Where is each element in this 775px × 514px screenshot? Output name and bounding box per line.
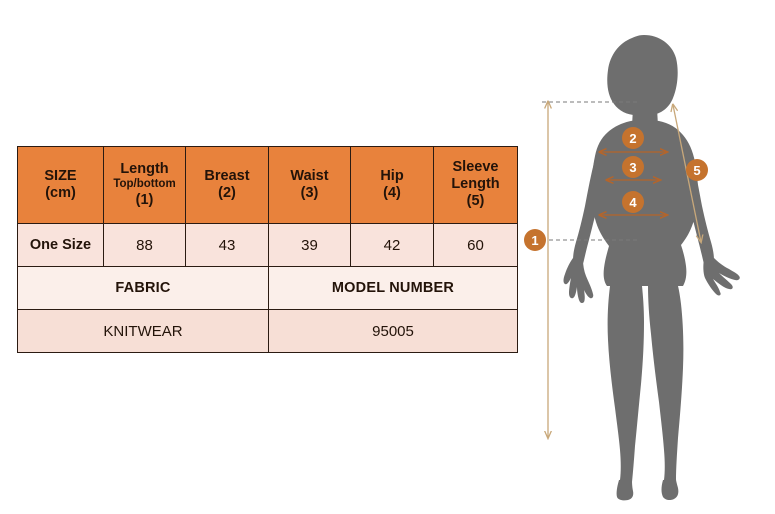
label-fabric: FABRIC xyxy=(18,267,269,310)
table-row: One Size 88 43 39 42 60 xyxy=(18,224,518,267)
header-hip-title: Hip xyxy=(352,168,432,185)
measurement-figure-container: 1 2 3 4 5 xyxy=(520,10,770,510)
cell-length-value: 88 xyxy=(104,224,186,267)
header-sleeve-title-line1: Sleeve xyxy=(435,159,516,176)
header-size-title: SIZE xyxy=(19,168,102,185)
cell-sleeve-value: 60 xyxy=(434,224,518,267)
marker-badge-hip: 4 xyxy=(622,191,644,213)
marker-badge-hip-label: 4 xyxy=(629,195,637,210)
size-table: SIZE (cm) Length Top/bottom (1) Breast (… xyxy=(17,146,518,353)
header-breast-ref: (2) xyxy=(187,185,267,202)
header-cell-size: SIZE (cm) xyxy=(18,147,104,224)
header-length-title: Length xyxy=(105,161,184,178)
table-info-value-row: KNITWEAR 95005 xyxy=(18,310,518,353)
size-chart-image: SIZE (cm) Length Top/bottom (1) Breast (… xyxy=(0,0,775,514)
female-silhouette-icon xyxy=(564,35,740,500)
cell-hip-value: 42 xyxy=(351,224,434,267)
label-model-number: MODEL NUMBER xyxy=(269,267,518,310)
header-cell-breast: Breast (2) xyxy=(186,147,269,224)
size-table-container: SIZE (cm) Length Top/bottom (1) Breast (… xyxy=(17,146,517,353)
table-info-label-row: FABRIC MODEL NUMBER xyxy=(18,267,518,310)
header-size-unit: (cm) xyxy=(19,185,102,202)
header-cell-length: Length Top/bottom (1) xyxy=(104,147,186,224)
header-cell-sleeve: Sleeve Length (5) xyxy=(434,147,518,224)
marker-badge-breast: 2 xyxy=(622,127,644,149)
value-model-number: 95005 xyxy=(269,310,518,353)
marker-badge-sleeve-label: 5 xyxy=(693,163,700,178)
header-cell-waist: Waist (3) xyxy=(269,147,351,224)
header-sleeve-title-line2: Length xyxy=(435,176,516,193)
header-length-sub: Top/bottom xyxy=(105,178,184,192)
marker-badge-waist: 3 xyxy=(622,156,644,178)
header-cell-hip: Hip (4) xyxy=(351,147,434,224)
marker-badge-sleeve: 5 xyxy=(686,159,708,181)
header-breast-title: Breast xyxy=(187,168,267,185)
header-hip-ref: (4) xyxy=(352,185,432,202)
marker-badge-breast-label: 2 xyxy=(629,131,636,146)
header-waist-title: Waist xyxy=(270,168,349,185)
header-length-ref: (1) xyxy=(105,192,184,209)
cell-breast-value: 43 xyxy=(186,224,269,267)
header-sleeve-ref: (5) xyxy=(435,193,516,210)
marker-badge-length-label: 1 xyxy=(531,233,538,248)
marker-badge-length: 1 xyxy=(524,229,546,251)
marker-badge-waist-label: 3 xyxy=(629,160,636,175)
cell-size-value: One Size xyxy=(18,224,104,267)
value-fabric: KNITWEAR xyxy=(18,310,269,353)
table-header-row: SIZE (cm) Length Top/bottom (1) Breast (… xyxy=(18,147,518,224)
cell-waist-value: 39 xyxy=(269,224,351,267)
header-waist-ref: (3) xyxy=(270,185,349,202)
